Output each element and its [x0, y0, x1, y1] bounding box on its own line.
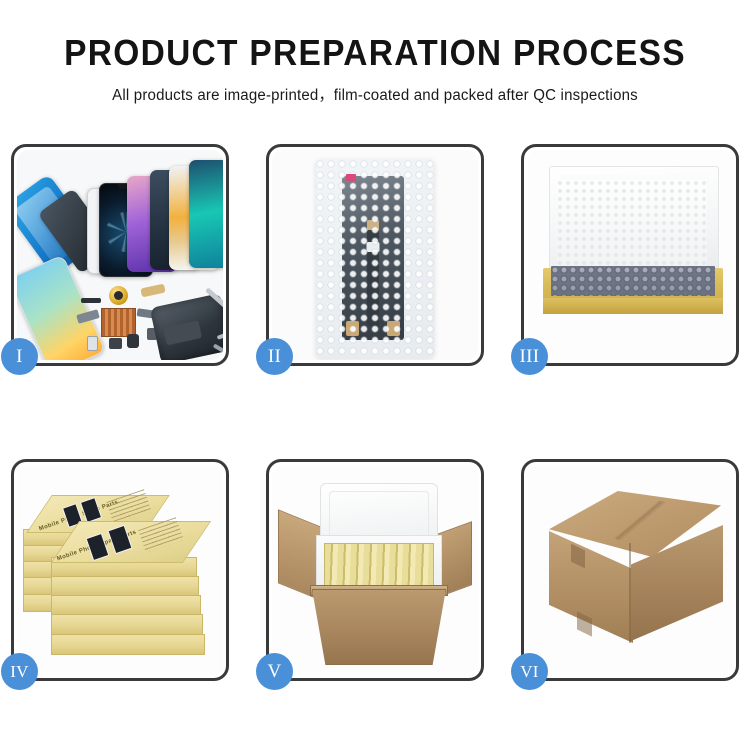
step-6-image — [527, 465, 733, 675]
box-foam-sheet — [557, 180, 707, 272]
step-badge-3: III — [511, 338, 548, 375]
stacked-box-front-2 — [51, 576, 199, 596]
step-badge-4: IV — [1, 653, 38, 690]
bubble-wrap-bag — [316, 160, 434, 358]
process-step-panel-6: VI — [521, 459, 739, 681]
process-step-panel-1: I — [11, 144, 229, 366]
sealed-carton-corner-edge — [629, 543, 631, 643]
part-speaker-bar — [81, 298, 101, 303]
step-3-image — [527, 150, 733, 360]
part-small-component-1 — [87, 336, 98, 351]
part-small-component-3 — [127, 334, 139, 348]
process-steps-grid: I II — [11, 144, 739, 684]
page-header: PRODUCT PREPARATION PROCESS All products… — [0, 0, 750, 105]
pink-qc-label — [346, 174, 356, 181]
bubble-wrap-texture — [316, 160, 434, 358]
process-step-panel-5: V — [266, 459, 484, 681]
process-step-panel-2: II — [266, 144, 484, 366]
step-badge-1: I — [1, 338, 38, 375]
product-preparation-process-page: PRODUCT PREPARATION PROCESS All products… — [0, 0, 750, 750]
part-copper-grid-chip — [101, 308, 136, 337]
teal-gradient-phone — [189, 160, 223, 268]
process-step-panel-3: III — [521, 144, 739, 366]
carton-body-open — [312, 589, 446, 665]
step-badge-2: II — [256, 338, 293, 375]
kraft-box-front-lip — [543, 298, 723, 314]
step-1-image — [17, 150, 223, 360]
part-small-component-2 — [109, 338, 122, 349]
bubble-wrapped-contents — [551, 266, 715, 296]
step-5-image — [272, 465, 478, 675]
stacked-box-front-5 — [51, 634, 205, 655]
part-gold-coil — [109, 286, 128, 305]
retail-box-stack: Mobile Phone Spare Parts Mobile Phone Sp… — [17, 465, 223, 675]
step-badge-6: VI — [511, 653, 548, 690]
step-4-image: Mobile Phone Spare Parts Mobile Phone Sp… — [17, 465, 223, 675]
step-2-image — [272, 150, 478, 360]
step-badge-5: V — [256, 653, 293, 690]
stacked-box-front-3 — [51, 595, 201, 615]
packed-retail-boxes — [324, 543, 434, 589]
page-title: PRODUCT PREPARATION PROCESS — [26, 34, 724, 72]
stacked-box-front-4 — [51, 614, 203, 635]
page-subtitle: All products are image-printed，film-coat… — [11, 83, 739, 105]
process-step-panel-4: Mobile Phone Spare Parts Mobile Phone Sp… — [11, 459, 229, 681]
